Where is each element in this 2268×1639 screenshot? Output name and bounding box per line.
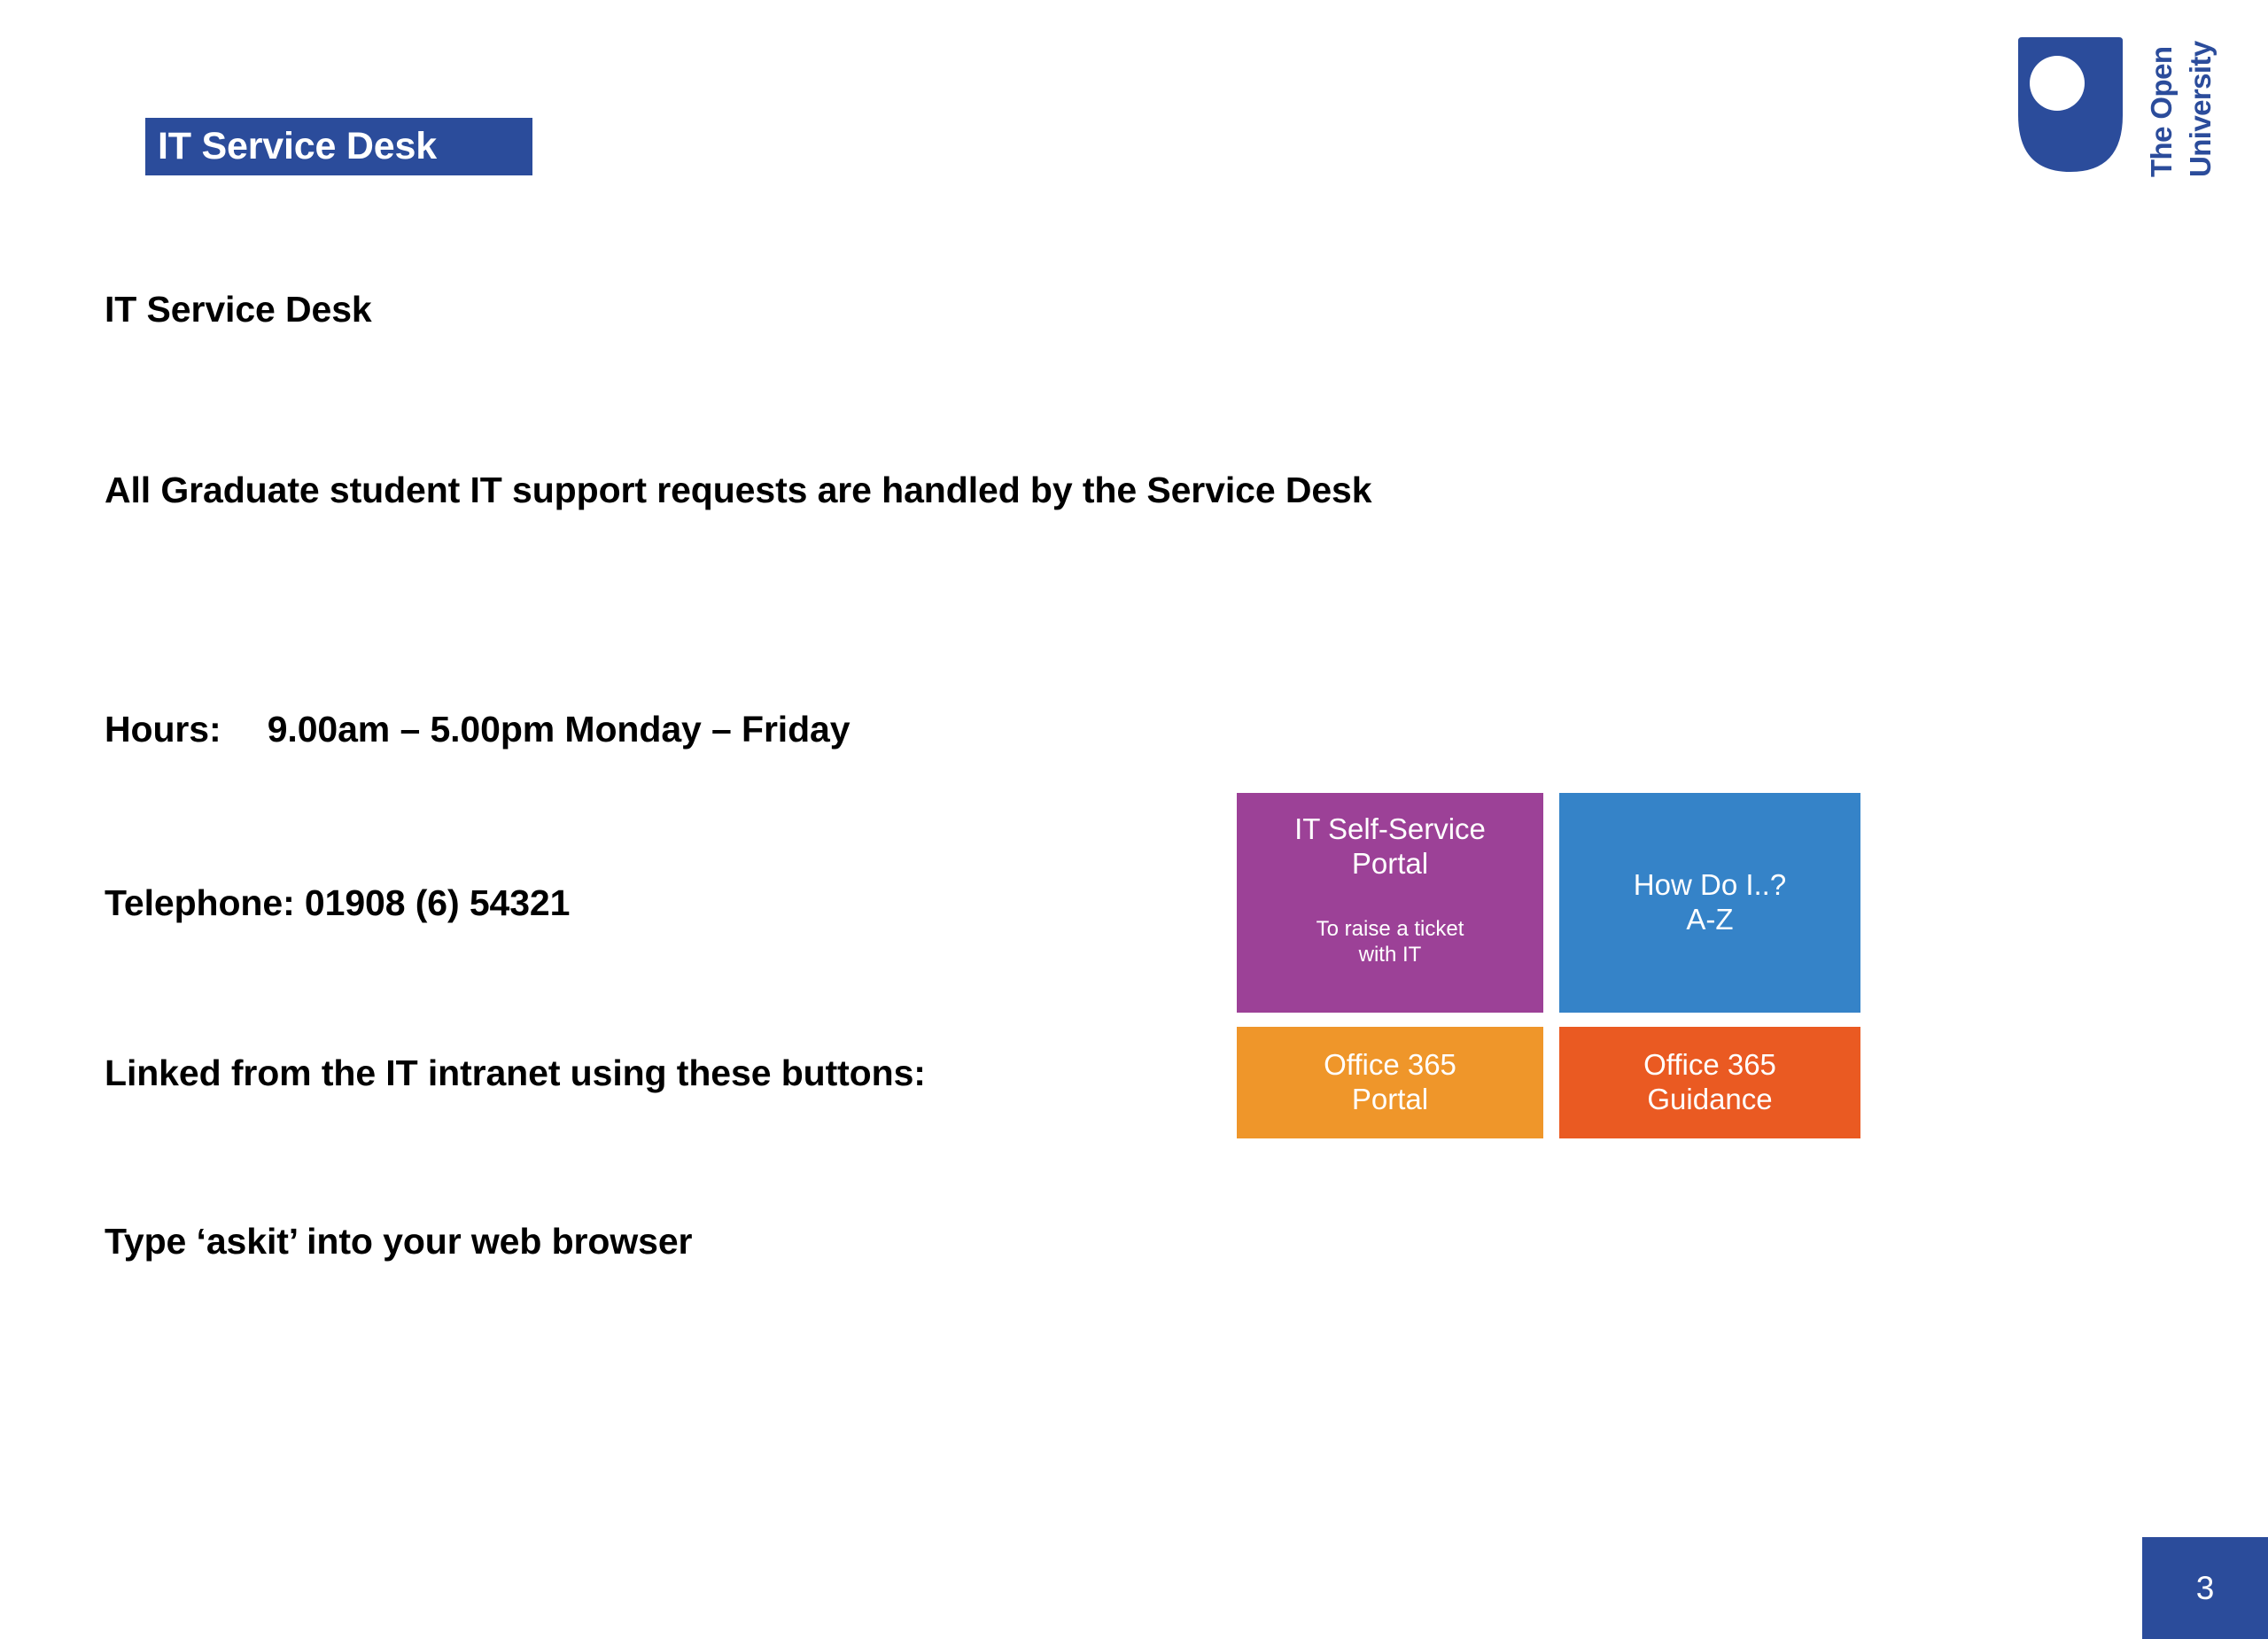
body-hours-text: Hours: 9.00am – 5.00pm Monday – Friday bbox=[105, 709, 850, 750]
slide-title-text: IT Service Desk bbox=[158, 128, 437, 166]
ou-wordmark-line-2: University bbox=[2186, 41, 2215, 177]
ou-shield-icon bbox=[2013, 37, 2128, 175]
tile-it-self-service-portal-title: IT Self-Service Portal bbox=[1294, 812, 1486, 882]
slide-canvas: IT Service Desk The Open University IT S… bbox=[0, 0, 2268, 1639]
body-intro-text: All Graduate student IT support requests… bbox=[105, 470, 1371, 511]
body-linked-text: Linked from the IT intranet using these … bbox=[105, 1053, 926, 1094]
service-button-tiles: IT Self-Service Portal To raise a ticket… bbox=[1237, 793, 1860, 1138]
tile-it-self-service-portal[interactable]: IT Self-Service Portal To raise a ticket… bbox=[1237, 793, 1543, 1013]
tile-office-365-portal-title: Office 365 Portal bbox=[1324, 1048, 1456, 1117]
tile-it-self-service-portal-subtitle: To raise a ticket with IT bbox=[1317, 917, 1464, 968]
open-university-logo: The Open University bbox=[2013, 37, 2249, 179]
page-number-badge: 3 bbox=[2142, 1537, 2268, 1639]
tile-office-365-portal[interactable]: Office 365 Portal bbox=[1237, 1027, 1543, 1138]
body-telephone-text: Telephone: 01908 (6) 54321 bbox=[105, 882, 570, 924]
tile-office-365-guidance-title: Office 365 Guidance bbox=[1643, 1048, 1776, 1117]
body-askit-text: Type ‘askit’ into your web browser bbox=[105, 1221, 692, 1262]
tile-how-do-i-a-z[interactable]: How Do I..? A-Z bbox=[1559, 793, 1860, 1013]
ou-wordmark: The Open University bbox=[2144, 37, 2249, 177]
tile-office-365-guidance[interactable]: Office 365 Guidance bbox=[1559, 1027, 1860, 1138]
page-number-text: 3 bbox=[2196, 1572, 2215, 1604]
ou-wordmark-line-1: The Open bbox=[2147, 47, 2176, 177]
tile-how-do-i-a-z-title: How Do I..? A-Z bbox=[1634, 868, 1786, 937]
body-heading: IT Service Desk bbox=[105, 289, 372, 330]
slide-title-banner: IT Service Desk bbox=[145, 118, 532, 175]
